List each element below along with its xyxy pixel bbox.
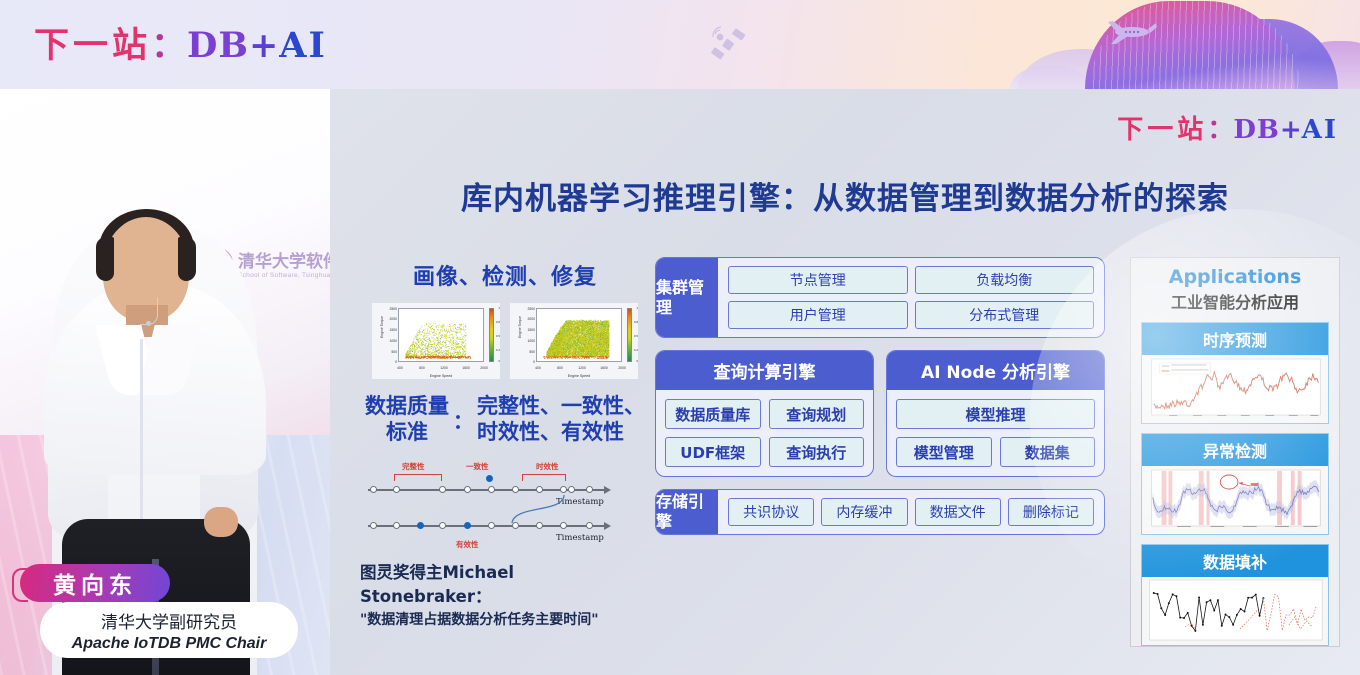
slide-title: 库内机器学习推理引擎：从数据管理到数据分析的探索 (330, 173, 1360, 218)
quality-label-line1: 数据质量 (365, 393, 449, 419)
colorbar-tick: 0.5 (634, 334, 638, 338)
xtick: 1600 (462, 366, 470, 370)
data-quality-timeline-diagram: 完整性 一致性 时效性 有效性 (360, 461, 650, 553)
colorbar-tick: 1 (498, 306, 500, 310)
xtick: 400 (535, 366, 541, 370)
chip-udf-framework[interactable]: UDF框架 (665, 437, 761, 467)
slide-brand-logo-cn: 下一站 (1117, 115, 1207, 145)
chip-model-inference[interactable]: 模型推理 (896, 399, 1095, 429)
ytick: 2500 (380, 307, 397, 311)
brand-logo-ai: AI (279, 25, 327, 66)
timeline-caption-consistency: 一致性 (466, 461, 489, 472)
scatter-plot-pair: Engine Torque 2500 2000 1500 1000 500 0 … (360, 303, 650, 379)
ytick: 1500 (518, 328, 535, 332)
colorbar-tick: 0.2 (496, 348, 500, 352)
cluster-management-card: 集群管理 节点管理 负载均衡 用户管理 分布式管理 (655, 257, 1105, 338)
ytick: 2500 (518, 307, 535, 311)
timeline-axis-label-bottom: Timestamp (556, 533, 604, 543)
quality-label-line2: 标准 (365, 419, 449, 445)
slide-brand-logo: 下一站：DB+AI (1117, 109, 1338, 146)
quality-items-line2: 时效性、有效性 (477, 419, 645, 445)
speaker-video-pane: 清华大学软件 School of Software, Tsinghua 黄向 (0, 89, 330, 675)
ytick: 500 (380, 350, 397, 354)
scatter-plot-dense-colorbar (627, 308, 632, 362)
chip-node-management[interactable]: 节点管理 (728, 266, 908, 294)
ytick: 1000 (518, 339, 535, 343)
imputation-chart (1142, 577, 1328, 645)
scatter-plot-sparse-colorbar (489, 308, 494, 362)
applications-heading: Applications (1141, 266, 1329, 288)
scatter-plot-dense-frame (536, 308, 622, 362)
xtick: 1600 (600, 366, 608, 370)
forecast-chart (1142, 355, 1328, 423)
app-card-anomaly[interactable]: 异常检测 (1141, 433, 1329, 535)
colorbar-tick: 0.2 (634, 348, 638, 352)
brand-logo-plus: + (249, 25, 279, 66)
chip-user-management[interactable]: 用户管理 (728, 301, 908, 329)
timeline-connector (506, 493, 576, 525)
colorbar-tick: 0.8 (634, 320, 638, 324)
ytick: 500 (518, 350, 535, 354)
chip-data-quality-library[interactable]: 数据质量库 (665, 399, 761, 429)
xtick: 1200 (578, 366, 586, 370)
applications-panel: Applications 工业智能分析应用 时序预测 (1130, 257, 1340, 647)
xtick: 400 (397, 366, 403, 370)
cluster-management-label-text: 集群管理 (656, 278, 718, 318)
screen: 下一站：DB+AI 清华大学软件 School of Software, Tsi… (0, 0, 1360, 675)
storage-engine-card: 存储引擎 共识协议 内存缓冲 数据文件 删除标记 (655, 489, 1105, 535)
chip-distributed-management[interactable]: 分布式管理 (915, 301, 1095, 329)
timeline-caption-timeliness: 时效性 (536, 461, 559, 472)
brand-logo: 下一站：DB+AI (34, 17, 327, 68)
scatter-plot-dense: Engine Torque 2500 2000 1500 1000 500 0 … (510, 303, 638, 379)
speaker-role: Apache IoTDB PMC Chair (72, 635, 267, 653)
chip-query-execution[interactable]: 查询执行 (769, 437, 865, 467)
app-card-imputation[interactable]: 数据填补 (1141, 544, 1329, 646)
app-card-forecasting[interactable]: 时序预测 (1141, 322, 1329, 424)
chip-dataset[interactable]: 数据集 (1000, 437, 1096, 467)
xtick: 2000 (480, 366, 488, 370)
brand-logo-colon: ： (151, 26, 187, 65)
colorbar-tick: 0.8 (496, 320, 500, 324)
app-card-imputation-title: 数据填补 (1142, 545, 1328, 577)
chip-consensus-protocol[interactable]: 共识协议 (728, 498, 814, 526)
scatter-plot-dense-xlabel: Engine Speed (536, 374, 622, 378)
architecture-diagram: 集群管理 节点管理 负载均衡 用户管理 分布式管理 查询计算引擎 数据质量库 查… (655, 257, 1105, 547)
colorbar-tick: 1 (636, 306, 638, 310)
chip-delete-marker[interactable]: 删除标记 (1008, 498, 1094, 526)
ytick: 0 (380, 360, 397, 364)
query-engine-header: 查询计算引擎 (656, 351, 873, 390)
xtick: 800 (419, 366, 425, 370)
speaker-name: 黄向东 (53, 566, 137, 600)
airplane-icon (1106, 18, 1158, 48)
quote-text: "数据清理占据数据分析任务主要时间" (360, 609, 650, 629)
slide-brand-logo-colon: ： (1207, 114, 1233, 144)
scatter-plot-sparse: Engine Torque 2500 2000 1500 1000 500 0 … (372, 303, 500, 379)
app-card-forecasting-title: 时序预测 (1142, 323, 1328, 355)
ytick: 1000 (380, 339, 397, 343)
ytick: 2000 (380, 317, 397, 321)
slide-brand-logo-db: DB (1233, 115, 1280, 145)
stonebraker-quote: 图灵奖得主Michael Stonebraker： "数据清理占据数据分析任务主… (360, 559, 650, 629)
colorbar-tick: 0 (498, 359, 500, 363)
scatter-plot-sparse-points (399, 309, 483, 359)
xtick: 1200 (440, 366, 448, 370)
ai-node-engine-header: AI Node 分析引擎 (887, 351, 1104, 390)
app-card-anomaly-title: 异常检测 (1142, 434, 1328, 466)
chip-data-file[interactable]: 数据文件 (915, 498, 1001, 526)
xtick: 2000 (618, 366, 626, 370)
quality-colon: ： (453, 405, 473, 434)
ytick: 2000 (518, 317, 535, 321)
presentation-slide: 下一站：DB+AI 库内机器学习推理引擎：从数据管理到数据分析的探索 画像、检测… (330, 89, 1360, 675)
quote-author: 图灵奖得主Michael Stonebraker： (360, 559, 650, 607)
chip-model-management[interactable]: 模型管理 (896, 437, 992, 467)
query-engine-card: 查询计算引擎 数据质量库 查询规划 UDF框架 查询执行 (655, 350, 874, 477)
cluster-management-label: 集群管理 (656, 258, 718, 337)
xtick: 800 (557, 366, 563, 370)
ai-node-engine-card: AI Node 分析引擎 模型推理 模型管理 数据集 (886, 350, 1105, 477)
speaker-affiliation: 清华大学副研究员 (101, 608, 237, 633)
chip-memory-buffer[interactable]: 内存缓冲 (821, 498, 907, 526)
slide-brand-logo-plus: + (1280, 115, 1302, 145)
brand-logo-db: DB (187, 25, 249, 66)
anomaly-chart (1142, 466, 1328, 534)
left-heading: 画像、检测、修复 (360, 259, 650, 291)
scatter-plot-sparse-frame (398, 308, 484, 362)
storage-engine-label: 存储引擎 (656, 490, 718, 534)
brand-logo-cn: 下一站 (34, 26, 151, 66)
timeline-caption-validity: 有效性 (456, 539, 479, 550)
top-banner: 下一站：DB+AI (0, 0, 1360, 89)
slide-brand-logo-ai: AI (1302, 115, 1338, 145)
engines-row: 查询计算引擎 数据质量库 查询规划 UDF框架 查询执行 AI Node 分析引… (655, 350, 1105, 477)
applications-subheading: 工业智能分析应用 (1141, 289, 1329, 313)
speaker-name-tag: 黄向东 (20, 564, 170, 602)
chip-query-planning[interactable]: 查询规划 (769, 399, 865, 429)
ytick: 0 (518, 360, 535, 364)
scatter-plot-dense-points (537, 309, 621, 359)
chip-load-balancing[interactable]: 负载均衡 (915, 266, 1095, 294)
data-quality-standards: 数据质量 标准 ： 完整性、一致性、 时效性、有效性 (360, 393, 650, 445)
left-column: 画像、检测、修复 Engine Torque 2500 2000 1500 10… (360, 259, 650, 629)
scatter-plot-sparse-xlabel: Engine Speed (398, 374, 484, 378)
colorbar-tick: 0.5 (496, 334, 500, 338)
speaker-title-card: 清华大学副研究员 Apache IoTDB PMC Chair (40, 602, 298, 658)
timeline-caption-completeness: 完整性 (402, 461, 425, 472)
satellite-icon (706, 22, 750, 66)
quality-items-line1: 完整性、一致性、 (477, 393, 645, 419)
colorbar-tick: 0 (636, 359, 638, 363)
ytick: 1500 (380, 328, 397, 332)
storage-engine-label-text: 存储引擎 (656, 492, 718, 532)
